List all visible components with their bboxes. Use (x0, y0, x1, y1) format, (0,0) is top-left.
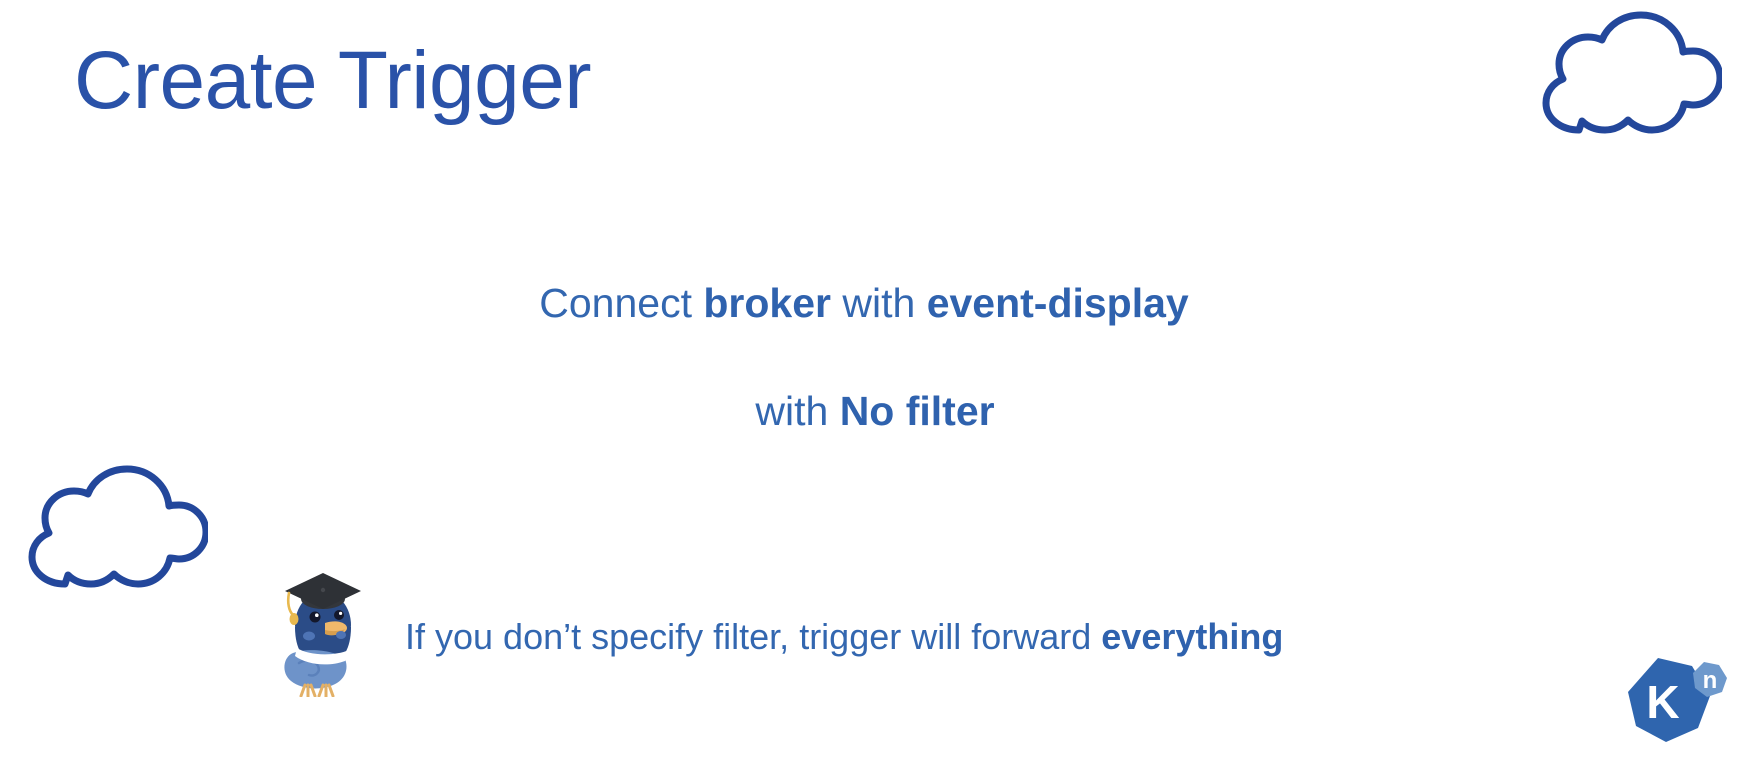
line2-prefix: with (755, 388, 839, 434)
cloud-outline-icon (8, 462, 208, 607)
knative-logo: K n (1620, 652, 1732, 756)
cloud-outline-icon (1522, 8, 1722, 153)
slide-canvas: Create Trigger Connect broker with event… (0, 0, 1750, 766)
knative-logo-n: n (1703, 667, 1718, 694)
graduation-bird-icon (275, 565, 367, 697)
knative-logo-k: K (1646, 676, 1679, 728)
line1-middle: with (831, 280, 927, 326)
line1-bold-event-display: event-display (927, 280, 1189, 326)
line2-bold-no-filter: No filter (840, 388, 995, 434)
line1-bold-broker: broker (703, 280, 831, 326)
note-bold-everything: everything (1101, 616, 1283, 657)
body-line-connect: Connect broker with event-display (0, 279, 1750, 328)
note-text: If you don’t specify filter, trigger wil… (405, 616, 1283, 658)
note-row: If you don’t specify filter, trigger wil… (275, 565, 1283, 697)
note-prefix: If you don’t specify filter, trigger wil… (405, 616, 1101, 657)
page-title: Create Trigger (74, 38, 591, 124)
line1-prefix: Connect (539, 280, 703, 326)
body-line-filter: with No filter (0, 387, 1750, 436)
